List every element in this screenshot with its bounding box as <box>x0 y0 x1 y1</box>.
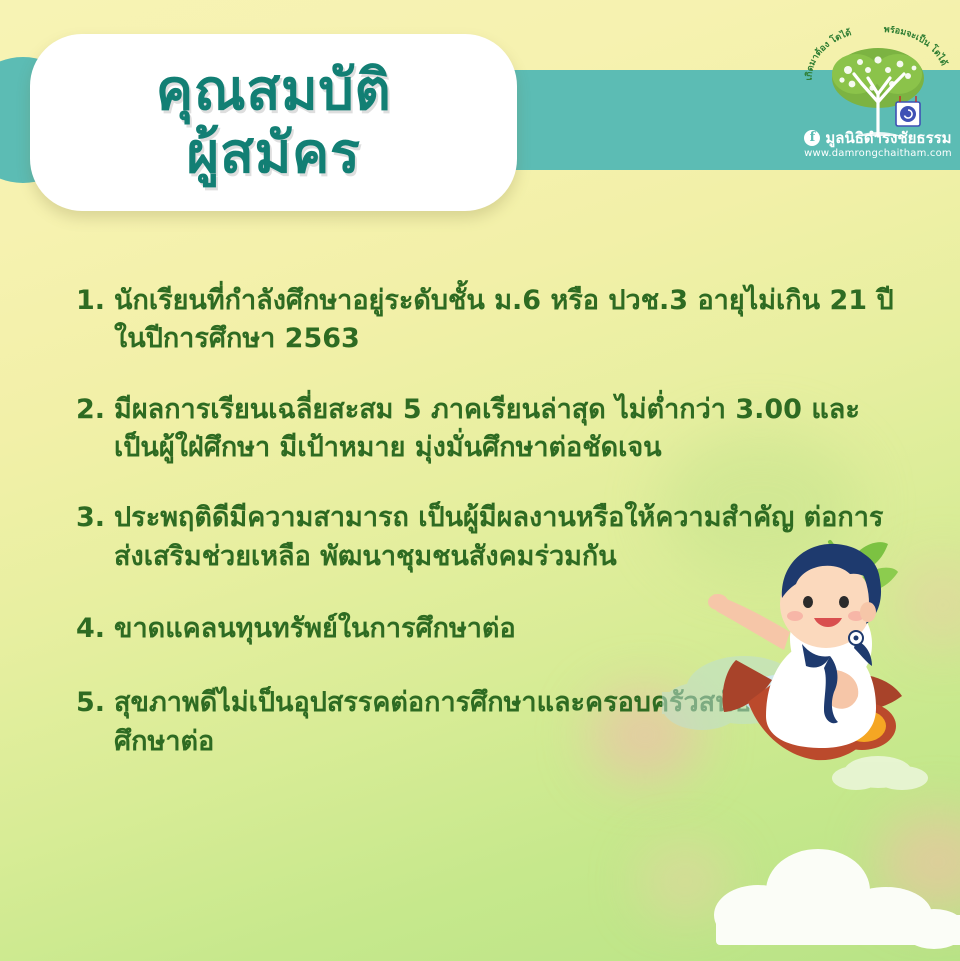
list-item-text: ขาดแคลนทุนทรัพย์ในการศึกษาต่อ <box>114 610 516 648</box>
list-item-number: 1. <box>76 282 105 320</box>
cloud-shape-small <box>832 756 928 790</box>
list-item: 1. นักเรียนที่กำลังศึกษาอยู่ระดับชั้น ม.… <box>76 282 906 359</box>
facebook-icon[interactable]: f <box>804 130 820 146</box>
list-item-text: ประพฤติดีมีความสามารถ เป็นผู้มีผลงานหรือ… <box>114 499 904 576</box>
list-item: 5. สุขภาพดีไม่เป็นอุปสรรคต่อการศึกษาและค… <box>76 684 906 761</box>
foundation-name: มูลนิธิดำรงชัยธรรม <box>825 126 951 150</box>
list-item: 2. มีผลการเรียนเฉลี่ยสะสม 5 ภาคเรียนล่าส… <box>76 391 906 468</box>
list-item-text: นักเรียนที่กำลังศึกษาอยู่ระดับชั้น ม.6 ห… <box>114 282 904 359</box>
list-item: 3. ประพฤติดีมีความสามารถ เป็นผู้มีผลงานห… <box>76 499 906 576</box>
list-item-text: มีผลการเรียนเฉลี่ยสะสม 5 ภาคเรียนล่าสุด … <box>114 391 904 468</box>
foundation-website[interactable]: www.damrongchaitham.com <box>798 148 958 159</box>
page-title-line-2: ผู้สมัคร <box>187 124 361 184</box>
list-item-number: 5. <box>76 684 105 722</box>
poster-canvas: คุณสมบัติ ผู้สมัคร เกิดมาต้อง โตได้ พร้อ… <box>0 0 960 961</box>
foundation-logo: เกิดมาต้อง โตได้ พร้อมจะเป็น โตได้ <box>798 26 958 166</box>
background-blob-pink <box>898 560 960 650</box>
page-title-card: คุณสมบัติ ผู้สมัคร <box>30 34 517 211</box>
qualification-list: 1. นักเรียนที่กำลังศึกษาอยู่ระดับชั้น ม.… <box>76 282 906 761</box>
page-title-line-1: คุณสมบัติ <box>156 61 391 121</box>
list-item-number: 4. <box>76 610 105 648</box>
cloud-bottom-icon <box>700 845 960 955</box>
logo-brand-row: f มูลนิธิดำรงชัยธรรม <box>798 126 958 150</box>
list-item-text: สุขภาพดีไม่เป็นอุปสรรคต่อการศึกษาและครอบ… <box>114 684 904 761</box>
list-item-number: 2. <box>76 391 105 429</box>
list-item-number: 3. <box>76 499 105 537</box>
list-item: 4. ขาดแคลนทุนทรัพย์ในการศึกษาต่อ <box>76 610 906 648</box>
background-blob-pink <box>640 846 730 916</box>
background-blob-pink <box>878 812 960 912</box>
